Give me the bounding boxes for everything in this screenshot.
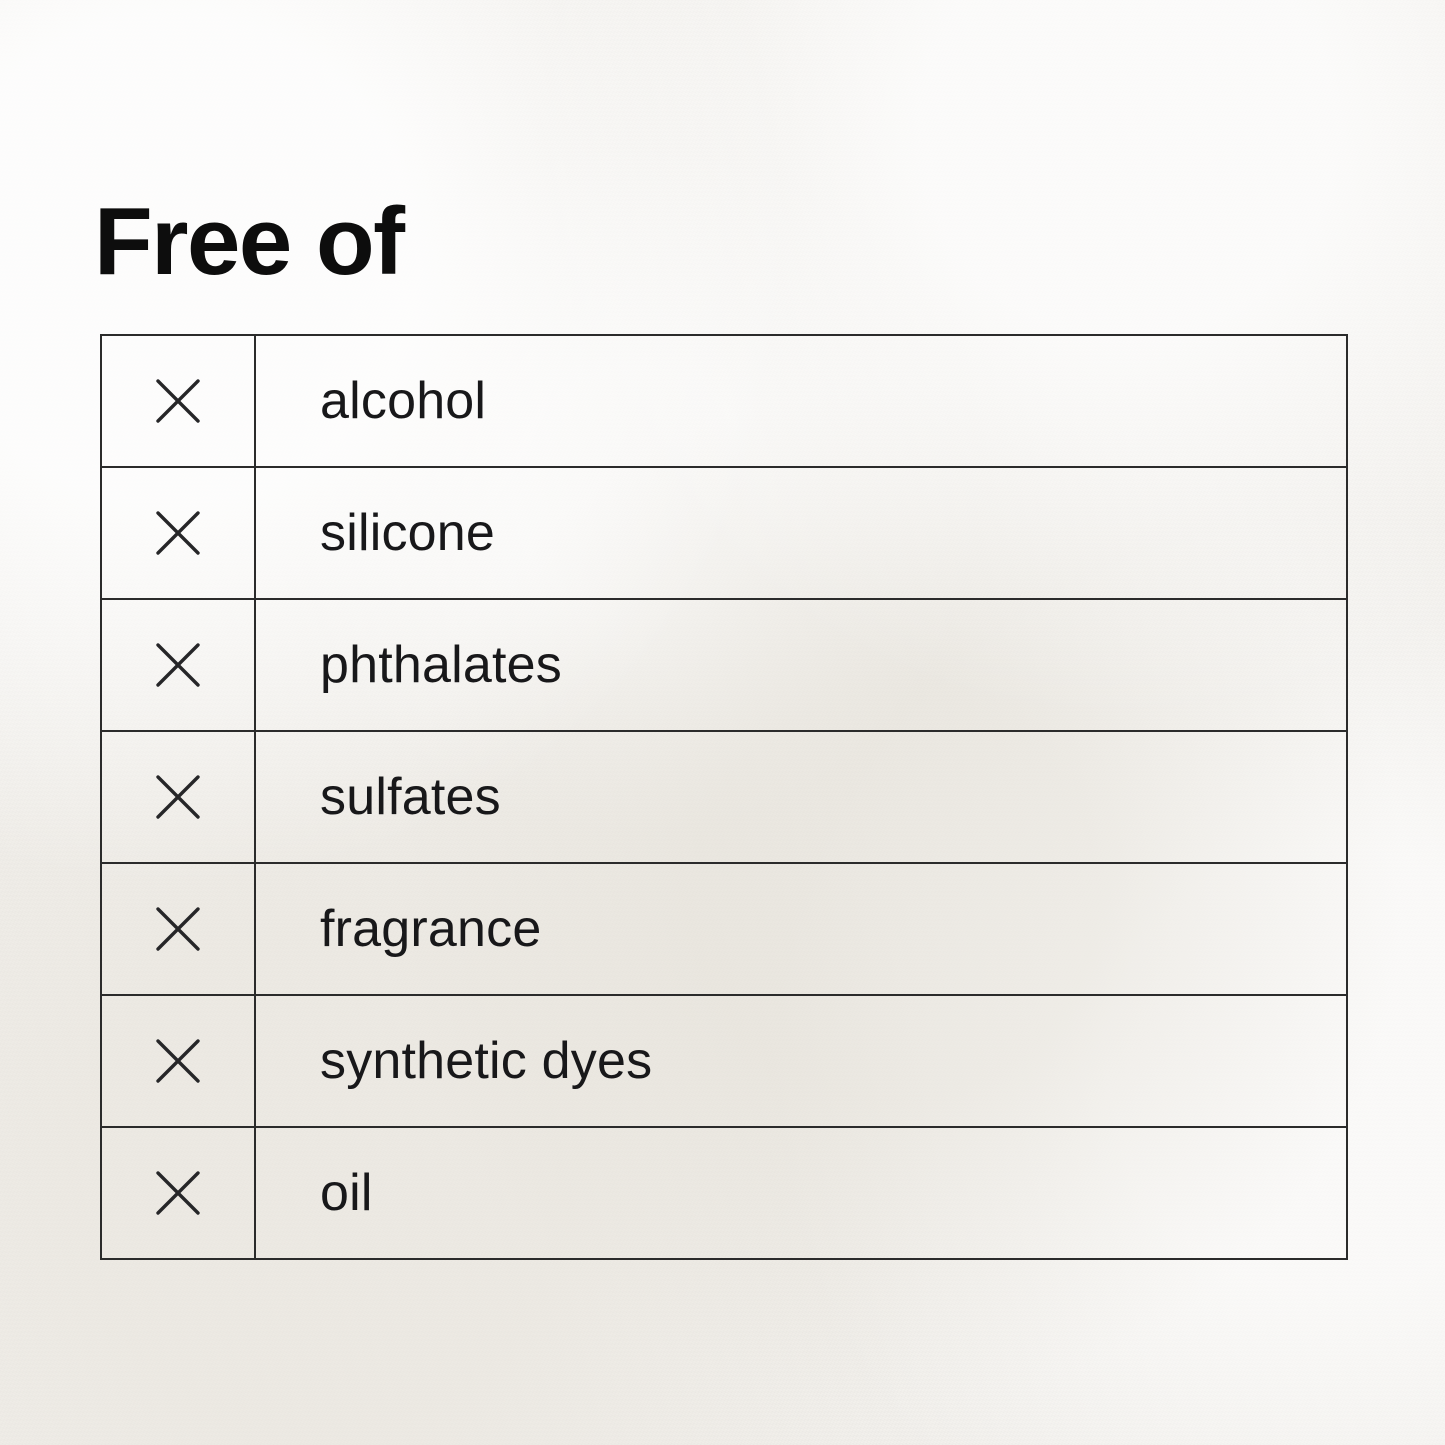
x-mark-icon: [155, 510, 201, 556]
table-row: alcohol: [101, 335, 1347, 467]
table-cell-label: sulfates: [255, 731, 1347, 863]
table-row: silicone: [101, 467, 1347, 599]
ingredient-label: alcohol: [320, 375, 486, 427]
table-cell-label: fragrance: [255, 863, 1347, 995]
table-row: phthalates: [101, 599, 1347, 731]
table-row: oil: [101, 1127, 1347, 1259]
table-cell-label: oil: [255, 1127, 1347, 1259]
table-cell-mark: [101, 1127, 255, 1259]
x-mark-icon: [155, 1038, 201, 1084]
table-cell-mark: [101, 467, 255, 599]
table-cell-mark: [101, 995, 255, 1127]
table-cell-mark: [101, 863, 255, 995]
table-cell-mark: [101, 599, 255, 731]
table-row: fragrance: [101, 863, 1347, 995]
free-of-ingredient-table: alcohol silicone: [100, 334, 1348, 1260]
x-mark-icon: [155, 906, 201, 952]
x-mark-icon: [155, 774, 201, 820]
table-row: sulfates: [101, 731, 1347, 863]
page-title: Free of: [94, 194, 404, 290]
ingredient-label: oil: [320, 1167, 373, 1219]
table-cell-mark: [101, 731, 255, 863]
table-cell-mark: [101, 335, 255, 467]
table-cell-label: silicone: [255, 467, 1347, 599]
x-mark-icon: [155, 642, 201, 688]
ingredient-label: silicone: [320, 507, 495, 559]
ingredient-label: sulfates: [320, 771, 501, 823]
free-of-panel: Free of alcohol: [0, 0, 1445, 1445]
table-cell-label: phthalates: [255, 599, 1347, 731]
ingredient-label: fragrance: [320, 903, 541, 955]
x-mark-icon: [155, 378, 201, 424]
table-cell-label: alcohol: [255, 335, 1347, 467]
table-row: synthetic dyes: [101, 995, 1347, 1127]
ingredient-label: synthetic dyes: [320, 1035, 652, 1087]
table-cell-label: synthetic dyes: [255, 995, 1347, 1127]
x-mark-icon: [155, 1170, 201, 1216]
ingredient-label: phthalates: [320, 639, 562, 691]
